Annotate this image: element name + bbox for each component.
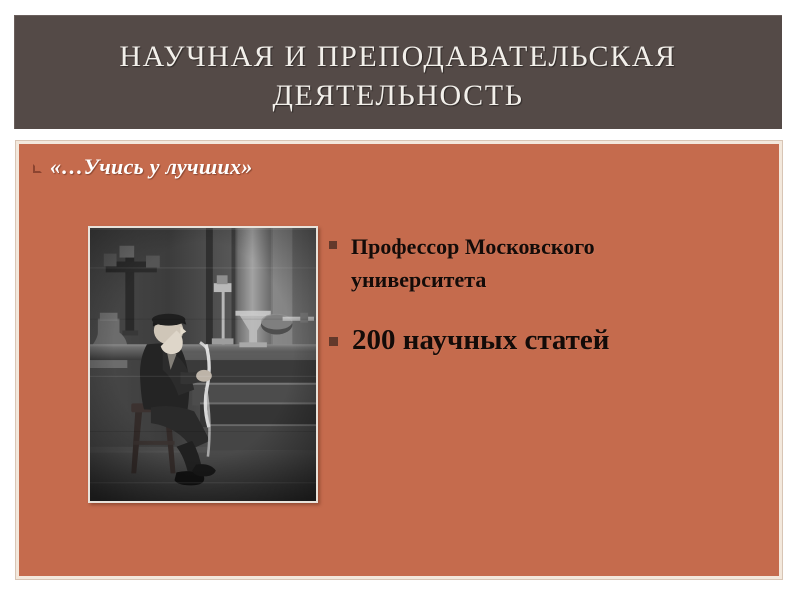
quote-text: «…Учись у лучших» — [50, 153, 253, 181]
page-title-line-1: НАУЧНАЯ И ПРЕПОДАВАТЕЛЬСКАЯ — [14, 37, 782, 76]
bullet-list: Профессор Московского университета 200 н… — [329, 230, 749, 384]
list-item: 200 научных статей — [329, 322, 749, 358]
list-item: Профессор Московского университета — [329, 230, 749, 296]
scientist-laboratory-photo — [88, 226, 318, 503]
slide-title-band: НАУЧНАЯ И ПРЕПОДАВАТЕЛЬСКАЯ ДЕЯТЕЛЬНОСТЬ — [14, 15, 782, 129]
square-bullet-icon — [329, 337, 338, 346]
open-square-bullet-icon — [33, 164, 42, 173]
scientist-laboratory-photo-graphic — [90, 228, 316, 501]
list-item-label: Профессор Московского университета — [351, 230, 681, 296]
presentation-slide: НАУЧНАЯ И ПРЕПОДАВАТЕЛЬСКАЯ ДЕЯТЕЛЬНОСТЬ… — [0, 0, 800, 600]
page-title: НАУЧНАЯ И ПРЕПОДАВАТЕЛЬСКАЯ ДЕЯТЕЛЬНОСТЬ — [14, 37, 782, 115]
square-bullet-icon — [329, 241, 337, 249]
quote-bullet-row: «…Учись у лучших» — [33, 153, 253, 181]
page-title-line-2: ДЕЯТЕЛЬНОСТЬ — [14, 76, 782, 115]
list-item-label: 200 научных статей — [352, 322, 610, 358]
slide-content-panel: «…Учись у лучших» — [16, 141, 782, 579]
